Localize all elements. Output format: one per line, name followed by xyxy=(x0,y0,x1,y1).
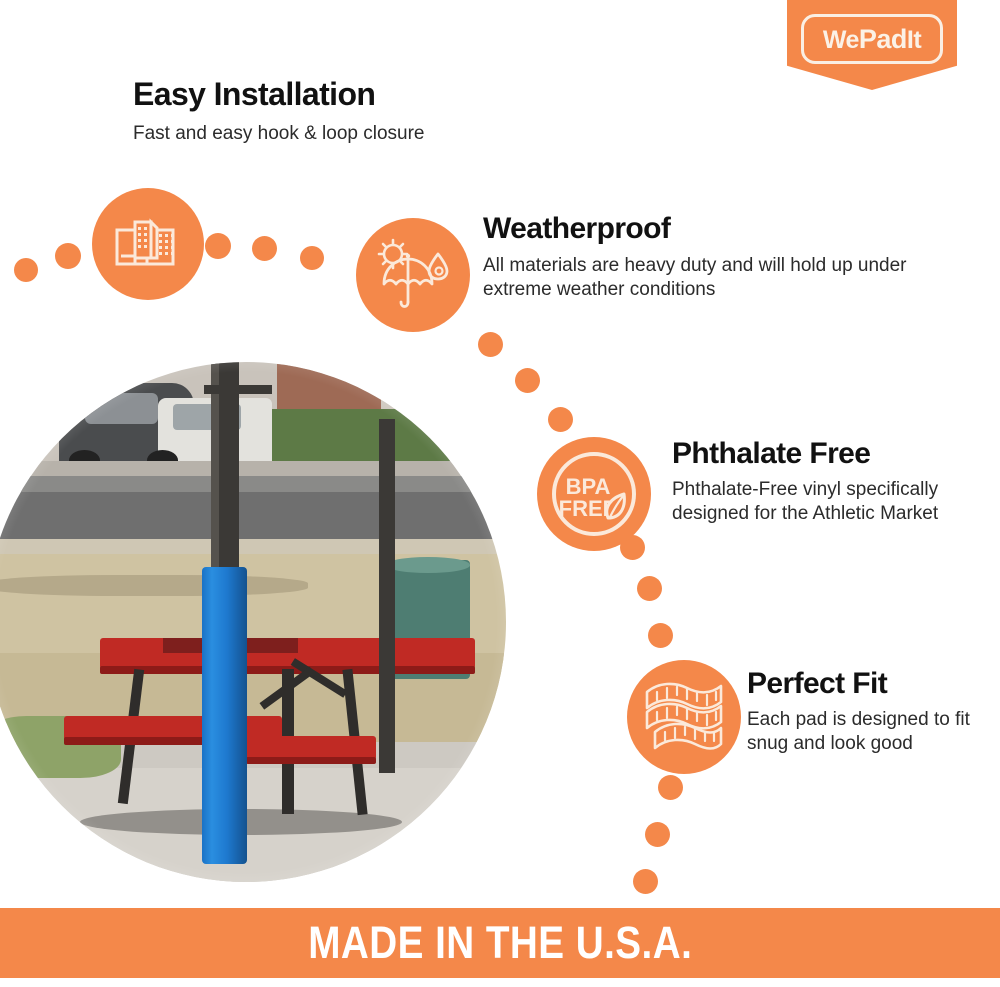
trail-dot xyxy=(515,368,540,393)
icon-circle-phthalate-free[interactable]: BPA FREE xyxy=(537,437,651,551)
icon-circle-easy-installation[interactable] xyxy=(92,188,204,300)
trail-dot xyxy=(648,623,673,648)
feature-block-weatherproof: Weatherproof All materials are heavy dut… xyxy=(483,213,913,302)
feature-block-phthalate-free: Phthalate Free Phthalate-Free vinyl spec… xyxy=(672,438,982,526)
logo-outline-box: WePadIt xyxy=(801,14,943,64)
logo-wordmark: WePadIt xyxy=(823,26,921,53)
measuring-tape-icon xyxy=(641,674,727,760)
feature-title-weatherproof: Weatherproof xyxy=(483,213,913,245)
icon-circle-perfect-fit[interactable] xyxy=(627,660,741,774)
trail-dot xyxy=(55,243,81,269)
hook-and-loop-icon xyxy=(113,214,183,274)
icon-circle-weatherproof[interactable] xyxy=(356,218,470,332)
trail-dot xyxy=(637,576,662,601)
feature-block-perfect-fit: Perfect Fit Each pad is designed to fit … xyxy=(747,668,987,756)
infographic-canvas: WePadIt Easy Installation Fast and easy … xyxy=(0,0,1000,987)
made-in-usa-text: MADE IN THE U.S.A. xyxy=(308,917,692,969)
brand-logo[interactable]: WePadIt xyxy=(787,0,957,90)
logo-text-it: It xyxy=(907,28,921,53)
feature-description-weatherproof: All materials are heavy duty and will ho… xyxy=(483,254,913,303)
feature-description-perfect-fit: Each pad is designed to fit snug and loo… xyxy=(747,708,987,757)
feature-title-perfect-fit: Perfect Fit xyxy=(747,668,987,700)
logo-text-we: We xyxy=(823,28,859,53)
made-in-usa-banner: MADE IN THE U.S.A. xyxy=(0,908,1000,978)
trail-dot xyxy=(300,246,324,270)
logo-text-pad: Pad xyxy=(859,26,907,53)
trail-dot xyxy=(14,258,38,282)
feature-title-easy-installation: Easy Installation xyxy=(133,78,633,112)
trail-dot xyxy=(252,236,277,261)
product-photo xyxy=(0,362,506,882)
trail-dot xyxy=(548,407,573,432)
bpa-free-leaf-icon: BPA FREE xyxy=(542,442,646,546)
trail-dot xyxy=(478,332,503,357)
trail-dot xyxy=(205,233,231,259)
feature-block-easy-installation: Easy Installation Fast and easy hook & l… xyxy=(133,78,633,146)
feature-description-phthalate-free: Phthalate-Free vinyl specifically design… xyxy=(672,478,982,527)
umbrella-sun-rain-icon xyxy=(374,238,452,312)
trail-dot xyxy=(658,775,683,800)
trail-dot xyxy=(645,822,670,847)
feature-description-easy-installation: Fast and easy hook & loop closure xyxy=(133,122,633,146)
feature-title-phthalate-free: Phthalate Free xyxy=(672,438,982,470)
trail-dot xyxy=(633,869,658,894)
